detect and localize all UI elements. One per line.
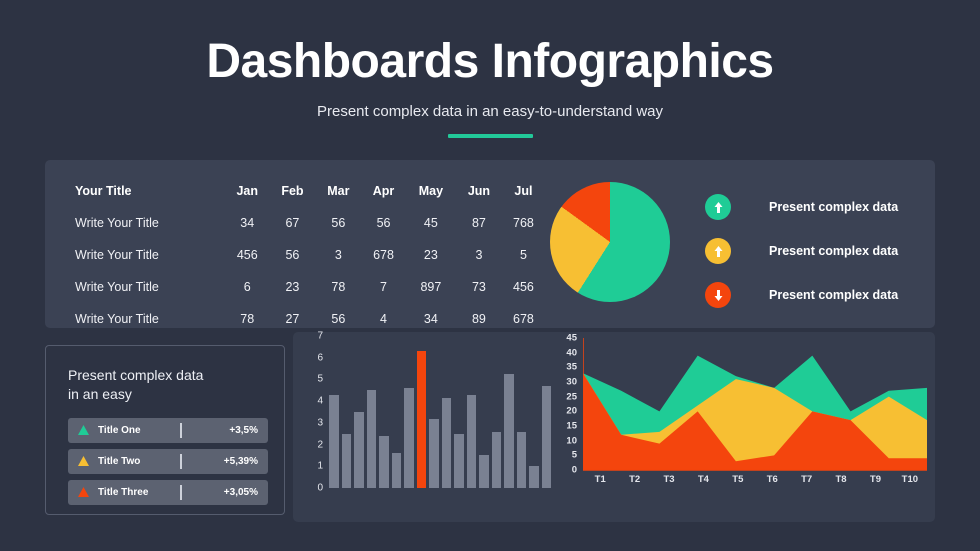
bar-chart-bar[interactable] [442,398,452,488]
area-chart-x-tick: T2 [617,474,651,485]
bar-chart-bar[interactable] [492,432,502,488]
area-chart-plot [583,338,927,474]
triangle-up-icon [78,456,92,466]
row-divider [180,423,182,438]
table-cell: 73 [456,280,502,312]
stats-card-title-line2: in an easy [68,385,284,404]
bar-chart-y-tick: 0 [317,483,323,494]
table-cell: 23 [406,248,456,280]
list-item[interactable]: Title Three +3,05% [68,480,268,505]
table-row: Write Your Title 456 56 3 678 23 3 5 [75,248,545,280]
table-cell: 6 [225,280,269,312]
table-cell: 87 [456,216,502,248]
area-chart-x-tick: T7 [789,474,823,485]
bar-chart-y-tick: 1 [317,461,323,472]
area-chart: 051015202530354045 T1T2T3T4T5T6T7T8T9T10 [555,338,927,506]
table-column-header: Jun [456,184,502,216]
pie-chart [550,182,670,302]
pie-chart-graphic [550,182,670,302]
table-cell: 3 [456,248,502,280]
bar-chart-bar[interactable] [467,395,477,488]
area-chart-y-tick: 5 [572,450,577,461]
stats-list: Title One +3,5% Title Two +5,39% Title T… [46,404,284,505]
stats-card: Present complex data in an easy Title On… [45,345,285,515]
bar-chart-y-tick: 4 [317,396,323,407]
row-divider [180,485,182,500]
table-row-label: Write Your Title [75,280,225,312]
bar-chart-bar[interactable] [379,436,389,488]
bar-chart-bar[interactable] [479,455,489,488]
table-column-header: Your Title [75,184,225,216]
area-chart-y-tick: 20 [566,406,577,417]
table-cell: 3 [315,248,361,280]
table-cell: 78 [315,280,361,312]
table-cell: 56 [315,216,361,248]
bar-chart-bar[interactable] [517,432,527,488]
bar-chart-bar[interactable] [529,466,539,488]
area-chart-x-tick: T3 [652,474,686,485]
area-chart-x-tick: T9 [858,474,892,485]
bar-chart-y-tick: 6 [317,352,323,363]
bar-chart-bar[interactable] [542,386,552,488]
area-chart-x-tick: T6 [755,474,789,485]
area-chart-y-tick: 30 [566,377,577,388]
bar-chart-bar[interactable] [429,419,439,488]
legend-item[interactable]: Present complex data [705,276,898,314]
table-column-header: Jul [502,184,545,216]
area-chart-y-tick: 45 [566,333,577,344]
list-item-value: +3,05% [224,487,258,498]
row-divider [180,454,182,469]
bar-chart-y-tick: 2 [317,439,323,450]
top-panel: Your Title Jan Feb Mar Apr May Jun Jul W… [45,160,935,328]
area-chart-y-tick: 25 [566,391,577,402]
table-cell: 678 [361,248,405,280]
table-cell: 7 [361,280,405,312]
page-header: Dashboards Infographics Present complex … [0,0,980,138]
table-row: Write Your Title 6 23 78 7 897 73 456 [75,280,545,312]
bar-chart-bar[interactable] [342,434,352,488]
list-item-label: Title Three [98,487,148,498]
table-cell: 23 [269,280,315,312]
area-chart-x-tick: T4 [686,474,720,485]
area-chart-x-tick: T5 [721,474,755,485]
bottom-panel: 01234567 051015202530354045 T1T2T3T4T5T6… [293,332,935,522]
arrow-up-icon [705,194,731,220]
area-chart-y-tick: 15 [566,421,577,432]
table-cell: 456 [502,280,545,312]
bar-chart-bar[interactable] [329,395,339,488]
legend-item[interactable]: Present complex data [705,232,898,270]
bar-chart-y-axis: 01234567 [303,336,323,494]
table-column-header: Mar [315,184,361,216]
page-title: Dashboards Infographics [0,36,980,89]
stats-card-title-line1: Present complex data [68,366,284,385]
page-subtitle: Present complex data in an easy-to-under… [0,103,980,120]
area-chart-y-tick: 35 [566,362,577,373]
bar-chart-plot [329,336,551,488]
table-cell: 56 [361,216,405,248]
title-accent-bar [448,134,533,138]
bar-chart-bar[interactable] [354,412,364,488]
area-chart-x-tick: T10 [893,474,927,485]
table-row-label: Write Your Title [75,248,225,280]
table-cell: 45 [406,216,456,248]
pie-legend: Present complex data Present complex dat… [705,188,898,320]
legend-item-label: Present complex data [769,200,898,214]
table-cell: 5 [502,248,545,280]
list-item-label: Title One [98,425,141,436]
bar-chart-y-tick: 5 [317,374,323,385]
area-chart-y-axis: 051015202530354045 [555,338,577,470]
area-chart-x-tick: T1 [583,474,617,485]
table-row-label: Write Your Title [75,312,225,344]
legend-item-label: Present complex data [769,288,898,302]
bar-chart-bar[interactable] [417,351,427,488]
table-cell: 897 [406,280,456,312]
arrow-up-icon [705,238,731,264]
list-item-value: +3,5% [229,425,258,436]
bar-chart-bar[interactable] [392,453,402,488]
stats-card-title: Present complex data in an easy [46,346,284,404]
data-table: Your Title Jan Feb Mar Apr May Jun Jul W… [75,184,545,344]
list-item-label: Title Two [98,456,140,467]
table-cell: 67 [269,216,315,248]
area-chart-y-tick: 10 [566,435,577,446]
bar-chart-bar[interactable] [404,388,414,488]
table-row: Write Your Title 34 67 56 56 45 87 768 [75,216,545,248]
table-column-header: Feb [269,184,315,216]
table-header-row: Your Title Jan Feb Mar Apr May Jun Jul [75,184,545,216]
list-item[interactable]: Title One +3,5% [68,418,268,443]
table-cell: 56 [269,248,315,280]
table-column-header: May [406,184,456,216]
triangle-up-icon [78,425,92,435]
list-item-value: +5,39% [224,456,258,467]
bar-chart: 01234567 [303,336,551,506]
bar-chart-y-tick: 3 [317,417,323,428]
legend-item-label: Present complex data [769,244,898,258]
table-row-label: Write Your Title [75,216,225,248]
area-chart-x-axis: T1T2T3T4T5T6T7T8T9T10 [564,474,927,485]
table-column-header: Jan [225,184,269,216]
table-cell: 456 [225,248,269,280]
bar-chart-y-tick: 7 [317,331,323,342]
list-item[interactable]: Title Two +5,39% [68,449,268,474]
table-column-header: Apr [361,184,405,216]
arrow-down-icon [705,282,731,308]
triangle-up-icon [78,487,92,497]
legend-item[interactable]: Present complex data [705,188,898,226]
table-cell: 768 [502,216,545,248]
bar-chart-bar[interactable] [454,434,464,488]
area-chart-y-tick: 40 [566,347,577,358]
area-chart-x-tick: T8 [824,474,858,485]
table-cell: 34 [225,216,269,248]
bar-chart-bar[interactable] [504,374,514,488]
table-cell: 78 [225,312,269,344]
bar-chart-bar[interactable] [367,390,377,488]
